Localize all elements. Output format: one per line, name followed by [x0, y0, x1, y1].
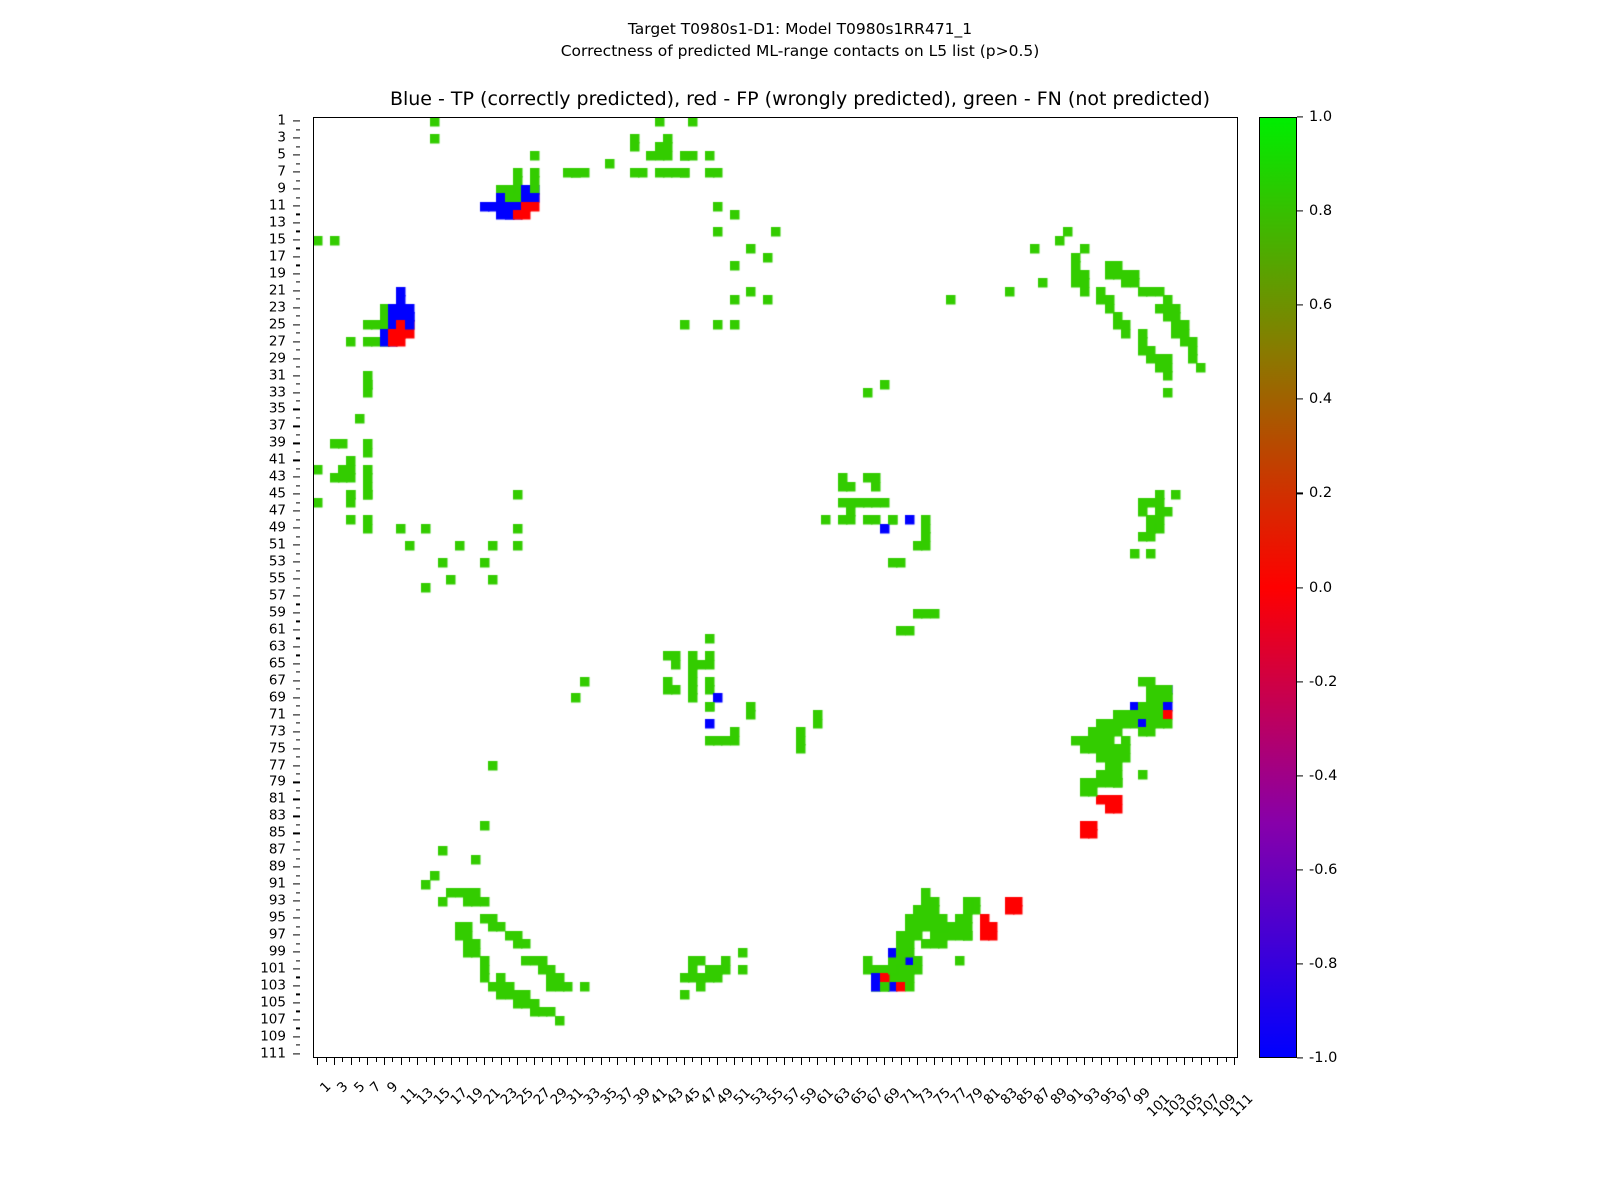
y-tick-mark — [296, 400, 300, 401]
colorbar-tick-label: -0.6 — [1309, 863, 1337, 878]
x-tick-mark — [926, 1058, 927, 1062]
x-tick-mark — [317, 1058, 318, 1065]
x-tick-mark — [1167, 1058, 1168, 1065]
colorbar-tick-labels: 1.00.80.60.40.20.0-0.2-0.4-0.6-0.8-1.0 — [1297, 117, 1367, 1058]
y-tick-mark — [293, 697, 300, 698]
x-tick-mark — [967, 1058, 968, 1065]
x-tick-mark — [701, 1058, 702, 1065]
x-tick-mark — [1134, 1058, 1135, 1065]
colorbar-tick-label: 1.0 — [1309, 110, 1332, 125]
y-tick-mark — [293, 307, 300, 308]
y-tick-label: 33 — [269, 386, 286, 400]
colorbar-gradient — [1259, 117, 1297, 1058]
y-tick-mark — [296, 1045, 300, 1046]
y-tick-mark — [296, 451, 300, 452]
title-line-2: Correctness of predicted ML-range contac… — [0, 40, 1600, 62]
y-tick-mark — [293, 1036, 300, 1037]
x-tick-mark — [1234, 1058, 1235, 1065]
x-tick-mark — [801, 1058, 802, 1065]
x-tick-mark — [1176, 1058, 1177, 1062]
y-tick-label: 73 — [269, 725, 286, 739]
y-tick-label: 27 — [269, 335, 286, 349]
y-tick-label: 89 — [269, 861, 286, 875]
y-tick-mark — [293, 511, 300, 512]
colorbar-tick-mark — [1297, 775, 1303, 776]
y-tick-label: 15 — [269, 233, 286, 247]
x-tick-mark — [359, 1058, 360, 1062]
y-tick-mark — [293, 358, 300, 359]
y-tick-label: 23 — [269, 301, 286, 315]
y-tick-label: 43 — [269, 471, 286, 485]
y-tick-mark — [293, 934, 300, 935]
y-tick-mark — [293, 595, 300, 596]
y-tick-mark — [296, 672, 300, 673]
colorbar-tick-label: 0.6 — [1309, 298, 1332, 313]
y-tick-mark — [296, 146, 300, 147]
y-tick-label: 53 — [269, 555, 286, 569]
x-tick-mark — [767, 1058, 768, 1065]
y-tick-mark — [296, 553, 300, 554]
y-tick-label: 25 — [269, 318, 286, 332]
y-tick-label: 57 — [269, 589, 286, 603]
colorbar-tick-mark — [1297, 587, 1303, 588]
x-tick-mark — [1034, 1058, 1035, 1065]
y-tick-mark — [293, 545, 300, 546]
colorbar-tick-label: -1.0 — [1309, 1051, 1337, 1066]
x-tick-mark — [659, 1058, 660, 1062]
y-tick-mark — [293, 205, 300, 206]
y-tick-mark — [296, 875, 300, 876]
colorbar-tick-label: -0.2 — [1309, 674, 1337, 689]
x-tick-mark — [584, 1058, 585, 1065]
y-tick-label: 91 — [269, 877, 286, 891]
x-tick-mark — [817, 1058, 818, 1065]
y-tick-mark — [293, 494, 300, 495]
y-tick-mark — [296, 824, 300, 825]
y-tick-label: 109 — [260, 1030, 286, 1044]
y-tick-mark — [293, 188, 300, 189]
x-tick-mark — [334, 1058, 335, 1065]
x-tick-mark — [501, 1058, 502, 1065]
x-tick-mark — [1001, 1058, 1002, 1065]
x-tick-mark — [642, 1058, 643, 1062]
y-tick-label: 83 — [269, 810, 286, 824]
y-tick-mark — [293, 985, 300, 986]
x-tick-mark — [726, 1058, 727, 1062]
y-tick-mark — [296, 1011, 300, 1012]
x-tick-mark — [517, 1058, 518, 1065]
figure-title-block: Target T0980s1-D1: Model T0980s1RR471_1 … — [0, 18, 1600, 62]
x-tick-mark — [884, 1058, 885, 1065]
y-tick-mark — [296, 621, 300, 622]
y-tick-mark — [293, 578, 300, 579]
y-tick-mark — [293, 612, 300, 613]
y-tick-label: 71 — [269, 708, 286, 722]
colorbar-tick-label: -0.8 — [1309, 957, 1337, 972]
colorbar-tick-mark — [1297, 963, 1303, 964]
y-tick-mark — [296, 299, 300, 300]
colorbar-tick-mark — [1297, 305, 1303, 306]
colorbar-tick-mark — [1297, 493, 1303, 494]
colorbar-tick-mark — [1297, 116, 1303, 117]
x-tick-mark — [442, 1058, 443, 1062]
y-tick-mark — [293, 375, 300, 376]
x-tick-mark — [709, 1058, 710, 1062]
x-tick-mark — [826, 1058, 827, 1062]
y-tick-mark — [296, 333, 300, 334]
y-tick-mark — [296, 366, 300, 367]
y-tick-mark — [293, 1019, 300, 1020]
x-tick-mark — [1192, 1058, 1193, 1062]
y-tick-mark — [296, 468, 300, 469]
x-tick-mark — [1026, 1058, 1027, 1062]
x-tick-mark — [776, 1058, 777, 1062]
y-tick-label: 95 — [269, 911, 286, 925]
x-tick-mark — [901, 1058, 902, 1065]
x-tick-label: 7 — [369, 1080, 385, 1096]
y-tick-mark — [293, 443, 300, 444]
x-tick-mark — [751, 1058, 752, 1065]
x-tick-mark — [959, 1058, 960, 1062]
y-tick-mark — [293, 714, 300, 715]
y-tick-mark — [296, 383, 300, 384]
y-tick-mark — [293, 951, 300, 952]
y-tick-mark — [293, 680, 300, 681]
x-tick-mark — [617, 1058, 618, 1065]
x-tick-mark — [626, 1058, 627, 1062]
x-tick-mark — [467, 1058, 468, 1065]
x-tick-mark — [984, 1058, 985, 1065]
y-tick-mark — [296, 807, 300, 808]
colorbar-tick-mark — [1297, 681, 1303, 682]
x-tick-mark — [542, 1058, 543, 1062]
y-tick-label: 101 — [260, 962, 286, 976]
x-tick-mark — [534, 1058, 535, 1065]
y-tick-mark — [293, 867, 300, 868]
y-tick-mark — [293, 918, 300, 919]
y-tick-mark — [293, 273, 300, 274]
x-tick-mark — [909, 1058, 910, 1062]
y-tick-mark — [293, 901, 300, 902]
y-tick-mark — [293, 528, 300, 529]
y-tick-mark — [293, 884, 300, 885]
x-tick-mark — [1109, 1058, 1110, 1062]
y-tick-mark — [293, 1053, 300, 1054]
x-tick-mark — [1209, 1058, 1210, 1062]
x-tick-mark — [1117, 1058, 1118, 1065]
y-tick-mark — [293, 222, 300, 223]
y-tick-label: 61 — [269, 623, 286, 637]
y-tick-mark — [296, 214, 300, 215]
colorbar-tick-mark — [1297, 869, 1303, 870]
y-tick-label: 69 — [269, 691, 286, 705]
y-tick-mark — [293, 392, 300, 393]
colorbar-tick-label: 0.0 — [1309, 580, 1332, 595]
x-tick-mark — [876, 1058, 877, 1062]
x-tick-mark — [1184, 1058, 1185, 1065]
y-tick-label: 7 — [277, 165, 286, 179]
x-tick-mark — [1226, 1058, 1227, 1062]
y-tick-mark — [296, 655, 300, 656]
y-tick-mark — [296, 790, 300, 791]
x-tick-mark — [934, 1058, 935, 1065]
y-tick-mark — [293, 816, 300, 817]
y-tick-mark — [296, 485, 300, 486]
y-tick-mark — [296, 197, 300, 198]
y-tick-label: 9 — [277, 182, 286, 196]
y-tick-label: 37 — [269, 420, 286, 434]
colorbar-tick-mark — [1297, 1057, 1303, 1058]
x-tick-mark — [809, 1058, 810, 1062]
y-tick-label: 63 — [269, 640, 286, 654]
x-tick-mark — [376, 1058, 377, 1062]
x-tick-mark — [434, 1058, 435, 1065]
x-tick-mark — [684, 1058, 685, 1065]
y-tick-mark — [296, 248, 300, 249]
x-tick-mark — [676, 1058, 677, 1062]
y-tick-mark — [296, 994, 300, 995]
x-tick-mark — [392, 1058, 393, 1062]
x-tick-mark — [1076, 1058, 1077, 1062]
y-tick-label: 59 — [269, 606, 286, 620]
y-tick-mark — [296, 773, 300, 774]
y-tick-mark — [296, 129, 300, 130]
y-tick-mark — [296, 638, 300, 639]
x-tick-mark — [667, 1058, 668, 1065]
y-tick-mark — [293, 799, 300, 800]
x-tick-mark — [734, 1058, 735, 1065]
y-tick-mark — [293, 409, 300, 410]
y-tick-label: 111 — [260, 1047, 286, 1061]
y-tick-label: 13 — [269, 216, 286, 230]
y-tick-mark — [296, 265, 300, 266]
y-tick-mark — [296, 960, 300, 961]
y-tick-mark — [293, 850, 300, 851]
x-tick-mark — [384, 1058, 385, 1065]
y-tick-mark — [296, 1028, 300, 1029]
y-tick-label: 19 — [269, 267, 286, 281]
y-tick-mark — [293, 1002, 300, 1003]
x-tick-label: 1 — [319, 1080, 335, 1096]
y-tick-label: 21 — [269, 284, 286, 298]
x-tick-mark — [917, 1058, 918, 1065]
y-tick-mark — [293, 290, 300, 291]
x-tick-mark — [951, 1058, 952, 1065]
y-tick-label: 49 — [269, 521, 286, 535]
x-tick-mark — [842, 1058, 843, 1062]
colorbar[interactable] — [1259, 117, 1297, 1058]
x-tick-mark — [417, 1058, 418, 1065]
x-tick-mark — [1092, 1058, 1093, 1062]
y-tick-mark — [293, 239, 300, 240]
y-tick-label: 31 — [269, 369, 286, 383]
y-tick-label: 67 — [269, 674, 286, 688]
y-tick-mark — [296, 604, 300, 605]
x-tick-mark — [1051, 1058, 1052, 1065]
y-tick-label: 81 — [269, 793, 286, 807]
x-tick-mark — [1217, 1058, 1218, 1065]
x-tick-mark — [1142, 1058, 1143, 1062]
y-tick-mark — [296, 519, 300, 520]
x-tick-mark — [1201, 1058, 1202, 1065]
x-tick-mark — [592, 1058, 593, 1062]
x-axis-tick-labels: 1357911131517192123252729313335373941434… — [313, 1058, 1238, 1178]
x-tick-label: 9 — [385, 1080, 401, 1096]
x-tick-mark — [717, 1058, 718, 1065]
y-tick-label: 93 — [269, 894, 286, 908]
y-tick-mark — [296, 943, 300, 944]
x-tick-mark — [451, 1058, 452, 1065]
y-tick-mark — [293, 782, 300, 783]
y-tick-mark — [296, 282, 300, 283]
x-tick-mark — [1042, 1058, 1043, 1062]
x-tick-mark — [634, 1058, 635, 1065]
x-tick-mark — [1084, 1058, 1085, 1065]
x-tick-mark — [601, 1058, 602, 1065]
x-tick-mark — [1151, 1058, 1152, 1065]
y-tick-mark — [293, 256, 300, 257]
colorbar-tick-mark — [1297, 211, 1303, 212]
y-tick-mark — [293, 341, 300, 342]
x-tick-mark — [859, 1058, 860, 1062]
y-tick-label: 39 — [269, 437, 286, 451]
x-tick-mark — [1159, 1058, 1160, 1062]
y-tick-mark — [293, 968, 300, 969]
x-tick-mark — [409, 1058, 410, 1062]
contact-map-canvas[interactable] — [313, 117, 1238, 1058]
y-tick-mark — [296, 756, 300, 757]
colorbar-tick-label: 0.2 — [1309, 486, 1332, 501]
y-tick-mark — [296, 977, 300, 978]
y-tick-label: 105 — [260, 996, 286, 1010]
y-tick-mark — [296, 536, 300, 537]
x-tick-mark — [792, 1058, 793, 1062]
x-tick-mark — [692, 1058, 693, 1062]
y-tick-mark — [293, 833, 300, 834]
y-tick-mark — [296, 502, 300, 503]
y-tick-mark — [293, 138, 300, 139]
colorbar-tick-label: -0.4 — [1309, 768, 1337, 783]
y-tick-mark — [293, 731, 300, 732]
x-tick-mark — [784, 1058, 785, 1065]
y-tick-mark — [296, 723, 300, 724]
y-tick-label: 85 — [269, 827, 286, 841]
y-tick-mark — [293, 155, 300, 156]
x-tick-mark — [576, 1058, 577, 1062]
y-tick-mark — [296, 417, 300, 418]
x-tick-mark — [401, 1058, 402, 1065]
legend-subtitle: Blue - TP (correctly predicted), red - F… — [0, 88, 1600, 110]
x-tick-mark — [526, 1058, 527, 1062]
y-tick-mark — [293, 748, 300, 749]
y-tick-mark — [293, 561, 300, 562]
y-tick-mark — [296, 740, 300, 741]
x-tick-mark — [609, 1058, 610, 1062]
y-tick-mark — [293, 172, 300, 173]
y-tick-mark — [293, 646, 300, 647]
y-tick-mark — [296, 858, 300, 859]
y-tick-mark — [293, 460, 300, 461]
y-tick-mark — [296, 180, 300, 181]
x-tick-mark — [1101, 1058, 1102, 1065]
x-tick-mark — [942, 1058, 943, 1062]
y-tick-label: 5 — [277, 148, 286, 162]
y-tick-label: 65 — [269, 657, 286, 671]
x-tick-mark — [1009, 1058, 1010, 1062]
y-tick-label: 3 — [277, 131, 286, 145]
x-tick-mark — [742, 1058, 743, 1062]
x-tick-mark — [551, 1058, 552, 1065]
x-tick-mark — [976, 1058, 977, 1062]
y-tick-mark — [293, 477, 300, 478]
y-tick-mark — [296, 587, 300, 588]
y-tick-label: 107 — [260, 1013, 286, 1027]
contact-map-plot[interactable] — [313, 117, 1238, 1058]
y-tick-mark — [293, 426, 300, 427]
x-tick-label: 3 — [335, 1080, 351, 1096]
y-tick-label: 55 — [269, 572, 286, 586]
y-tick-mark — [296, 434, 300, 435]
y-tick-mark — [296, 892, 300, 893]
x-tick-label: 5 — [352, 1080, 368, 1096]
y-tick-label: 11 — [269, 199, 286, 213]
y-tick-mark — [296, 706, 300, 707]
y-tick-label: 45 — [269, 487, 286, 501]
x-tick-mark — [484, 1058, 485, 1065]
y-tick-label: 87 — [269, 844, 286, 858]
y-tick-label: 41 — [269, 454, 286, 468]
x-tick-mark — [892, 1058, 893, 1062]
x-tick-mark — [1059, 1058, 1060, 1062]
x-tick-mark — [367, 1058, 368, 1065]
x-tick-mark — [867, 1058, 868, 1065]
x-tick-mark — [851, 1058, 852, 1065]
y-tick-label: 47 — [269, 504, 286, 518]
y-tick-mark — [296, 231, 300, 232]
y-tick-mark — [293, 629, 300, 630]
y-tick-mark — [296, 689, 300, 690]
y-tick-label: 79 — [269, 776, 286, 790]
y-tick-mark — [293, 324, 300, 325]
x-tick-mark — [342, 1058, 343, 1062]
y-tick-label: 97 — [269, 928, 286, 942]
y-tick-label: 77 — [269, 759, 286, 773]
colorbar-tick-mark — [1297, 399, 1303, 400]
y-tick-label: 1 — [277, 114, 286, 128]
x-tick-mark — [426, 1058, 427, 1062]
y-tick-label: 51 — [269, 538, 286, 552]
y-tick-label: 29 — [269, 352, 286, 366]
x-tick-mark — [459, 1058, 460, 1062]
x-tick-mark — [351, 1058, 352, 1065]
x-tick-mark — [1017, 1058, 1018, 1065]
x-tick-mark — [559, 1058, 560, 1062]
y-tick-mark — [296, 570, 300, 571]
title-line-1: Target T0980s1-D1: Model T0980s1RR471_1 — [0, 18, 1600, 40]
x-tick-mark — [651, 1058, 652, 1065]
y-tick-mark — [293, 765, 300, 766]
x-tick-mark — [509, 1058, 510, 1062]
y-tick-mark — [293, 121, 300, 122]
y-axis-tick-labels: 1357911131517192123252729313335373941434… — [0, 117, 300, 1058]
y-tick-mark — [296, 926, 300, 927]
x-tick-mark — [1067, 1058, 1068, 1065]
y-tick-label: 17 — [269, 250, 286, 264]
x-tick-mark — [1126, 1058, 1127, 1062]
x-tick-mark — [992, 1058, 993, 1062]
y-tick-label: 75 — [269, 742, 286, 756]
y-tick-mark — [296, 909, 300, 910]
